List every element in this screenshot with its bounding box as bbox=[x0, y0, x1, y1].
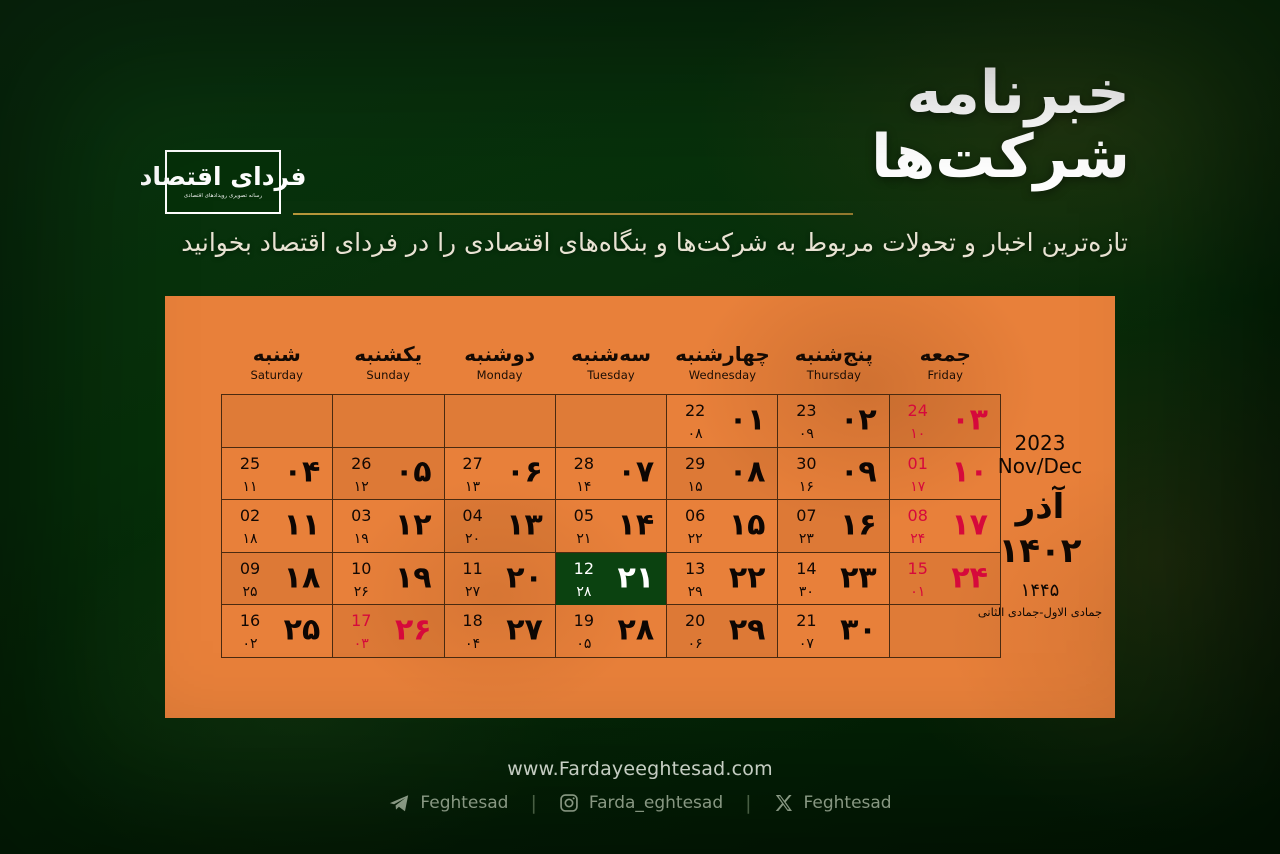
secondary-dates: 08۲۴ bbox=[901, 508, 935, 546]
gregorian-day-number: 29 bbox=[678, 456, 712, 472]
calendar-day-cell[interactable]: ۰۱22۰۸ bbox=[666, 395, 777, 448]
gregorian-day-number: 01 bbox=[901, 456, 935, 472]
persian-day-number: ۰۸ bbox=[729, 458, 766, 488]
hijri-months: جمادی الاول-جمادی الثانی bbox=[970, 606, 1110, 620]
secondary-dates: 17۰۳ bbox=[344, 613, 378, 651]
calendar-day-cell[interactable]: ۱۳04۲۰ bbox=[444, 500, 555, 553]
hijri-day-number: ۲۹ bbox=[678, 585, 712, 599]
social-links: Feghtesad | Farda_eghtesad | bbox=[0, 792, 1280, 814]
month-info-panel: 2023 Nov/Dec آذر ۱۴۰۲ ۱۴۴۵ جمادی الاول-ج… bbox=[970, 432, 1110, 620]
gregorian-day-number: 18 bbox=[456, 613, 490, 629]
secondary-dates: 16۰۲ bbox=[233, 613, 267, 651]
calendar-day-cell[interactable]: ۰۹30۱۶ bbox=[777, 448, 888, 501]
gold-divider bbox=[293, 213, 853, 215]
calendar-cell-empty bbox=[332, 395, 443, 448]
hijri-day-number: ۱۱ bbox=[233, 480, 267, 494]
hijri-day-number: ۰۴ bbox=[456, 637, 490, 651]
calendar-day-cell[interactable]: ۲۷18۰۴ bbox=[444, 605, 555, 658]
hijri-day-number: ۳۰ bbox=[789, 585, 823, 599]
weekday-header-sunday: یکشنبه Sunday bbox=[332, 344, 443, 390]
calendar-day-cell[interactable]: ۲۸19۰۵ bbox=[555, 605, 666, 658]
gregorian-day-number: 24 bbox=[901, 403, 935, 419]
x-twitter-icon bbox=[774, 793, 794, 813]
gregorian-day-number: 22 bbox=[678, 403, 712, 419]
gregorian-day-number: 27 bbox=[456, 456, 490, 472]
social-handle: Feghtesad bbox=[420, 793, 508, 813]
weekday-en: Friday bbox=[890, 370, 1001, 382]
gregorian-day-number: 02 bbox=[233, 508, 267, 524]
persian-day-number: ۳۰ bbox=[840, 616, 877, 646]
weekday-fa: پنج‌شنبه bbox=[778, 344, 889, 364]
weekday-en: Thursday bbox=[778, 370, 889, 382]
gregorian-day-number: 07 bbox=[789, 508, 823, 524]
hijri-day-number: ۰۷ bbox=[789, 637, 823, 651]
persian-day-number: ۰۲ bbox=[840, 405, 877, 435]
gregorian-day-number: 10 bbox=[344, 561, 378, 577]
weekday-en: Monday bbox=[444, 370, 555, 382]
poster-root: فردای اقتصاد رسانه تصویری رویدادهای اقتص… bbox=[0, 0, 1280, 854]
hijri-day-number: ۲۲ bbox=[678, 532, 712, 546]
calendar-cell-empty bbox=[221, 395, 332, 448]
secondary-dates: 03۱۹ bbox=[344, 508, 378, 546]
secondary-dates: 12۲۸ bbox=[567, 561, 601, 599]
calendar-grid: ۰۳24۱۰۰۲23۰۹۰۱22۰۸۱۰01۱۷۰۹30۱۶۰۸29۱۵۰۷28… bbox=[221, 394, 1001, 658]
brand-logo[interactable]: فردای اقتصاد رسانه تصویری رویدادهای اقتص… bbox=[165, 150, 281, 214]
calendar-day-cell[interactable]: ۱۶07۲۳ bbox=[777, 500, 888, 553]
persian-day-number: ۱۸ bbox=[284, 563, 321, 593]
weekday-fa: دوشنبه bbox=[444, 344, 555, 364]
calendar-day-cell[interactable]: ۰۶27۱۳ bbox=[444, 448, 555, 501]
social-handle: Feghtesad bbox=[804, 793, 892, 813]
logo-name: فردای اقتصاد bbox=[140, 164, 307, 189]
page-title: خبرنامه شرکت‌ها bbox=[871, 62, 1130, 189]
persian-day-number: ۱۱ bbox=[284, 510, 321, 540]
secondary-dates: 29۱۵ bbox=[678, 456, 712, 494]
hijri-day-number: ۲۴ bbox=[901, 532, 935, 546]
hijri-day-number: ۱۹ bbox=[344, 532, 378, 546]
gregorian-day-number: 26 bbox=[344, 456, 378, 472]
calendar-day-cell[interactable]: ۰۸29۱۵ bbox=[666, 448, 777, 501]
secondary-dates: 01۱۷ bbox=[901, 456, 935, 494]
weekday-fa: یکشنبه bbox=[332, 344, 443, 364]
persian-day-number: ۲۰ bbox=[506, 563, 543, 593]
persian-day-number: ۰۱ bbox=[729, 405, 766, 435]
title-line-1: خبرنامه bbox=[871, 62, 1130, 126]
secondary-dates: 19۰۵ bbox=[567, 613, 601, 651]
weekday-header-row: جمعه Friday پنج‌شنبه Thursday چهارشنبه W… bbox=[221, 344, 1001, 390]
hijri-day-number: ۱۰ bbox=[901, 427, 935, 441]
secondary-dates: 14۳۰ bbox=[789, 561, 823, 599]
persian-day-number: ۰۶ bbox=[506, 458, 543, 488]
hijri-day-number: ۰۲ bbox=[233, 637, 267, 651]
persian-day-number: ۰۴ bbox=[284, 458, 321, 488]
secondary-dates: 21۰۷ bbox=[789, 613, 823, 651]
persian-day-number: ۲۹ bbox=[729, 616, 766, 646]
gregorian-day-number: 09 bbox=[233, 561, 267, 577]
hijri-day-number: ۱۲ bbox=[344, 480, 378, 494]
title-line-2: شرکت‌ها bbox=[871, 126, 1130, 190]
hijri-day-number: ۲۰ bbox=[456, 532, 490, 546]
gregorian-day-number: 19 bbox=[567, 613, 601, 629]
gregorian-day-number: 05 bbox=[567, 508, 601, 524]
persian-day-number: ۲۷ bbox=[506, 616, 543, 646]
secondary-dates: 06۲۲ bbox=[678, 508, 712, 546]
hijri-day-number: ۲۱ bbox=[567, 532, 601, 546]
calendar-day-cell[interactable]: ۱۱02۱۸ bbox=[221, 500, 332, 553]
calendar-day-cell[interactable]: ۱۲03۱۹ bbox=[332, 500, 443, 553]
gregorian-year: 2023 bbox=[970, 432, 1110, 455]
telegram-icon bbox=[388, 792, 410, 814]
weekday-fa: جمعه bbox=[890, 344, 1001, 364]
hijri-day-number: ۲۷ bbox=[456, 585, 490, 599]
gregorian-day-number: 12 bbox=[567, 561, 601, 577]
calendar-day-cell[interactable]: ۱۹10۲۶ bbox=[332, 553, 443, 606]
weekday-en: Sunday bbox=[332, 370, 443, 382]
weekday-header-thursday: پنج‌شنبه Thursday bbox=[778, 344, 889, 390]
calendar-day-cell[interactable]: ۰۴25۱۱ bbox=[221, 448, 332, 501]
secondary-dates: 05۲۱ bbox=[567, 508, 601, 546]
hijri-day-number: ۰۶ bbox=[678, 637, 712, 651]
calendar-day-cell[interactable]: ۰۷28۱۴ bbox=[555, 448, 666, 501]
secondary-dates: 30۱۶ bbox=[789, 456, 823, 494]
secondary-dates: 23۰۹ bbox=[789, 403, 823, 441]
calendar-day-cell[interactable]: ۲۳14۳۰ bbox=[777, 553, 888, 606]
hijri-day-number: ۱۸ bbox=[233, 532, 267, 546]
secondary-dates: 10۲۶ bbox=[344, 561, 378, 599]
weekday-header-monday: دوشنبه Monday bbox=[444, 344, 555, 390]
hijri-day-number: ۲۶ bbox=[344, 585, 378, 599]
secondary-dates: 04۲۰ bbox=[456, 508, 490, 546]
footer: www.Fardayeeghtesad.com Feghtesad | bbox=[0, 718, 1280, 854]
hijri-day-number: ۱۵ bbox=[678, 480, 712, 494]
weekday-en: Saturday bbox=[221, 370, 332, 382]
secondary-dates: 18۰۴ bbox=[456, 613, 490, 651]
hijri-day-number: ۱۳ bbox=[456, 480, 490, 494]
hijri-day-number: ۰۹ bbox=[789, 427, 823, 441]
gregorian-day-number: 04 bbox=[456, 508, 490, 524]
calendar-day-cell[interactable]: ۱۴05۲۱ bbox=[555, 500, 666, 553]
calendar-day-cell[interactable]: ۰۵26۱۲ bbox=[332, 448, 443, 501]
persian-day-number: ۰۷ bbox=[618, 458, 655, 488]
calendar-day-cell[interactable]: ۳۰21۰۷ bbox=[777, 605, 888, 658]
hijri-day-number: ۱۷ bbox=[901, 480, 935, 494]
weekday-fa: سه‌شنبه bbox=[555, 344, 666, 364]
secondary-dates: 02۱۸ bbox=[233, 508, 267, 546]
calendar-panel: جمعه Friday پنج‌شنبه Thursday چهارشنبه W… bbox=[165, 296, 1115, 718]
hijri-day-number: ۰۸ bbox=[678, 427, 712, 441]
gregorian-day-number: 30 bbox=[789, 456, 823, 472]
weekday-en: Wednesday bbox=[667, 370, 778, 382]
hijri-day-number: ۲۳ bbox=[789, 532, 823, 546]
calendar-day-cell[interactable]: ۲۰11۲۷ bbox=[444, 553, 555, 606]
social-handle: Farda_eghtesad bbox=[589, 793, 723, 813]
secondary-dates: 25۱۱ bbox=[233, 456, 267, 494]
gregorian-day-number: 23 bbox=[789, 403, 823, 419]
secondary-dates: 22۰۸ bbox=[678, 403, 712, 441]
persian-day-number: ۱۴ bbox=[618, 510, 655, 540]
secondary-dates: 09۲۵ bbox=[233, 561, 267, 599]
weekday-header-wednesday: چهارشنبه Wednesday bbox=[667, 344, 778, 390]
persian-day-number: ۱۶ bbox=[840, 510, 877, 540]
gregorian-months: Nov/Dec bbox=[970, 455, 1110, 478]
social-x-twitter[interactable]: Feghtesad bbox=[752, 793, 914, 813]
weekday-en: Tuesday bbox=[555, 370, 666, 382]
secondary-dates: 11۲۷ bbox=[456, 561, 490, 599]
persian-day-number: ۱۲ bbox=[395, 510, 432, 540]
persian-day-number: ۰۳ bbox=[951, 405, 988, 435]
gregorian-day-number: 25 bbox=[233, 456, 267, 472]
social-telegram[interactable]: Feghtesad bbox=[366, 792, 530, 814]
calendar-day-cell[interactable]: ۲۵16۰۲ bbox=[221, 605, 332, 658]
persian-day-number: ۲۲ bbox=[729, 563, 766, 593]
header-subtitle: تازه‌ترین اخبار و تحولات مربوط به شرکت‌ه… bbox=[181, 228, 1128, 257]
secondary-dates: 13۲۹ bbox=[678, 561, 712, 599]
hijri-day-number: ۰۱ bbox=[901, 585, 935, 599]
secondary-dates: 07۲۳ bbox=[789, 508, 823, 546]
gregorian-day-number: 17 bbox=[344, 613, 378, 629]
gregorian-day-number: 21 bbox=[789, 613, 823, 629]
persian-day-number: ۲۱ bbox=[618, 563, 655, 593]
persian-day-number: ۲۵ bbox=[284, 616, 321, 646]
gregorian-day-number: 28 bbox=[567, 456, 601, 472]
persian-day-number: ۰۵ bbox=[395, 458, 432, 488]
secondary-dates: 20۰۶ bbox=[678, 613, 712, 651]
gregorian-day-number: 11 bbox=[456, 561, 490, 577]
persian-month: آذر bbox=[970, 490, 1110, 524]
calendar-day-cell[interactable]: ۲۹20۰۶ bbox=[666, 605, 777, 658]
persian-day-number: ۲۳ bbox=[840, 563, 877, 593]
weekday-header-saturday: شنبه Saturday bbox=[221, 344, 332, 390]
weekday-header-tuesday: سه‌شنبه Tuesday bbox=[555, 344, 666, 390]
website-link[interactable]: www.Fardayeeghtesad.com bbox=[0, 758, 1280, 780]
hijri-day-number: ۰۳ bbox=[344, 637, 378, 651]
gregorian-day-number: 16 bbox=[233, 613, 267, 629]
calendar-day-cell[interactable]: ۱۸09۲۵ bbox=[221, 553, 332, 606]
hijri-day-number: ۰۵ bbox=[567, 637, 601, 651]
secondary-dates: 26۱۲ bbox=[344, 456, 378, 494]
logo-tagline: رسانه تصویری رویدادهای اقتصادی bbox=[184, 194, 262, 200]
weekday-fa: چهارشنبه bbox=[667, 344, 778, 364]
hijri-day-number: ۱۴ bbox=[567, 480, 601, 494]
gregorian-day-number: 15 bbox=[901, 561, 935, 577]
hijri-year: ۱۴۴۵ bbox=[970, 582, 1110, 600]
calendar-day-cell[interactable]: ۰۲23۰۹ bbox=[777, 395, 888, 448]
calendar-day-cell-today[interactable]: ۲۱12۲۸ bbox=[555, 553, 666, 606]
gregorian-day-number: 03 bbox=[344, 508, 378, 524]
persian-day-number: ۱۵ bbox=[729, 510, 766, 540]
weekday-fa: شنبه bbox=[221, 344, 332, 364]
secondary-dates: 15۰۱ bbox=[901, 561, 935, 599]
secondary-dates: 28۱۴ bbox=[567, 456, 601, 494]
persian-day-number: ۱۳ bbox=[506, 510, 543, 540]
calendar-day-cell[interactable]: ۱۵06۲۲ bbox=[666, 500, 777, 553]
hijri-day-number: ۲۸ bbox=[567, 585, 601, 599]
hijri-day-number: ۲۵ bbox=[233, 585, 267, 599]
calendar-cell-empty bbox=[444, 395, 555, 448]
persian-day-number: ۱۹ bbox=[395, 563, 432, 593]
persian-day-number: ۰۹ bbox=[840, 458, 877, 488]
gregorian-day-number: 14 bbox=[789, 561, 823, 577]
calendar-day-cell[interactable]: ۲۲13۲۹ bbox=[666, 553, 777, 606]
instagram-icon bbox=[559, 793, 579, 813]
gregorian-day-number: 08 bbox=[901, 508, 935, 524]
persian-day-number: ۲۸ bbox=[618, 616, 655, 646]
gregorian-day-number: 06 bbox=[678, 508, 712, 524]
calendar-day-cell[interactable]: ۲۶17۰۳ bbox=[332, 605, 443, 658]
secondary-dates: 24۱۰ bbox=[901, 403, 935, 441]
hijri-day-number: ۱۶ bbox=[789, 480, 823, 494]
persian-year: ۱۴۰۲ bbox=[970, 534, 1110, 568]
secondary-dates: 27۱۳ bbox=[456, 456, 490, 494]
weekday-header-friday: جمعه Friday bbox=[890, 344, 1001, 390]
persian-day-number: ۲۶ bbox=[395, 616, 432, 646]
calendar-cell-empty bbox=[555, 395, 666, 448]
gregorian-day-number: 13 bbox=[678, 561, 712, 577]
gregorian-day-number: 20 bbox=[678, 613, 712, 629]
header: فردای اقتصاد رسانه تصویری رویدادهای اقتص… bbox=[0, 0, 1280, 296]
social-instagram[interactable]: Farda_eghtesad bbox=[537, 793, 745, 813]
